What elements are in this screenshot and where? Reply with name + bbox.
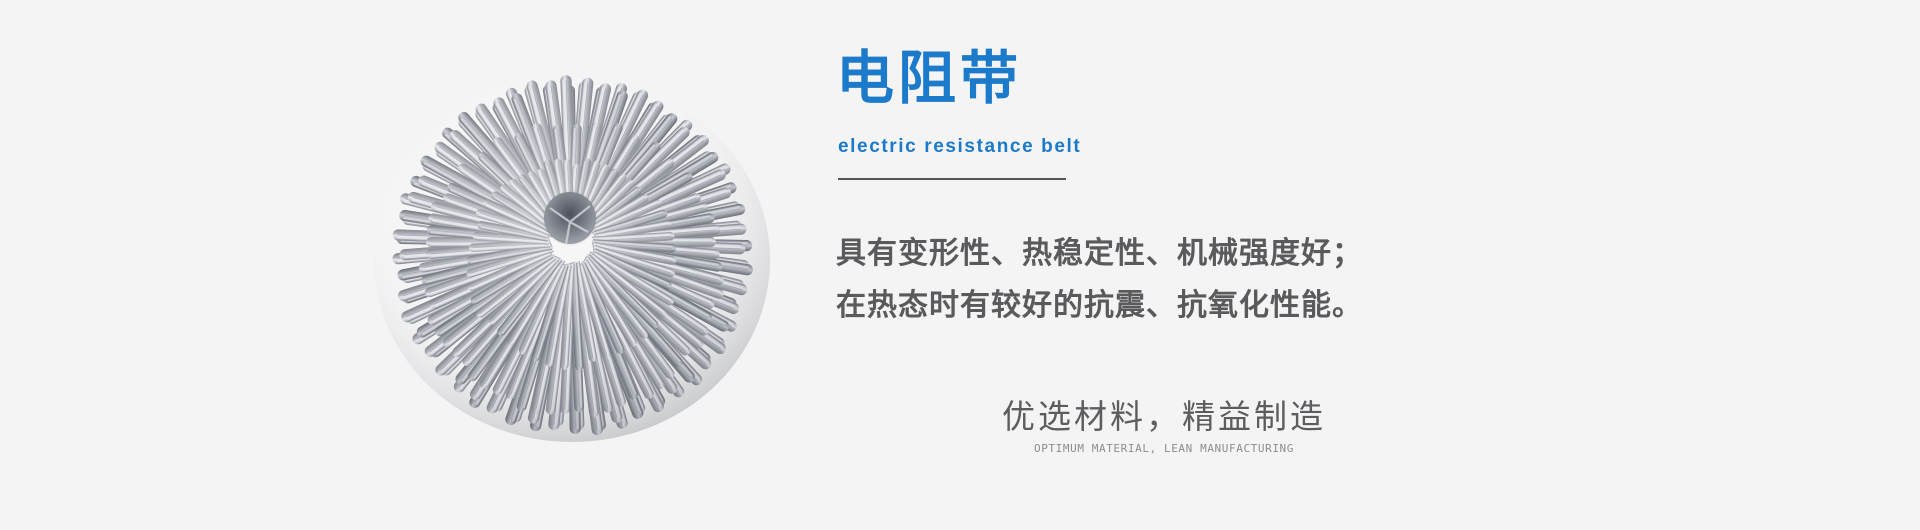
description-text: 具有变形性、热稳定性、机械强度好； 在热态时有较好的抗震、抗氧化性能。: [836, 228, 1496, 332]
page-subtitle: electric resistance belt: [838, 136, 1081, 158]
tagline-block: 优选材料，精益制造 OPTIMUM MATERIAL, LEAN MANUFAC…: [954, 398, 1374, 456]
text-column: 电阻带 electric resistance belt 具有变形性、热稳定性、…: [836, 0, 1836, 530]
page-title: 电阻带: [836, 48, 1022, 110]
title-divider: [838, 178, 1066, 180]
resistance-belt-illustration: [352, 52, 792, 452]
description-line-1: 具有变形性、热稳定性、机械强度好；: [836, 228, 1496, 280]
product-image: [352, 52, 792, 452]
tagline-chinese: 优选材料，精益制造: [954, 398, 1374, 436]
tagline-english: OPTIMUM MATERIAL, LEAN MANUFACTURING: [954, 442, 1374, 456]
description-line-2: 在热态时有较好的抗震、抗氧化性能。: [836, 280, 1496, 332]
product-banner: 电阻带 electric resistance belt 具有变形性、热稳定性、…: [0, 0, 1920, 530]
